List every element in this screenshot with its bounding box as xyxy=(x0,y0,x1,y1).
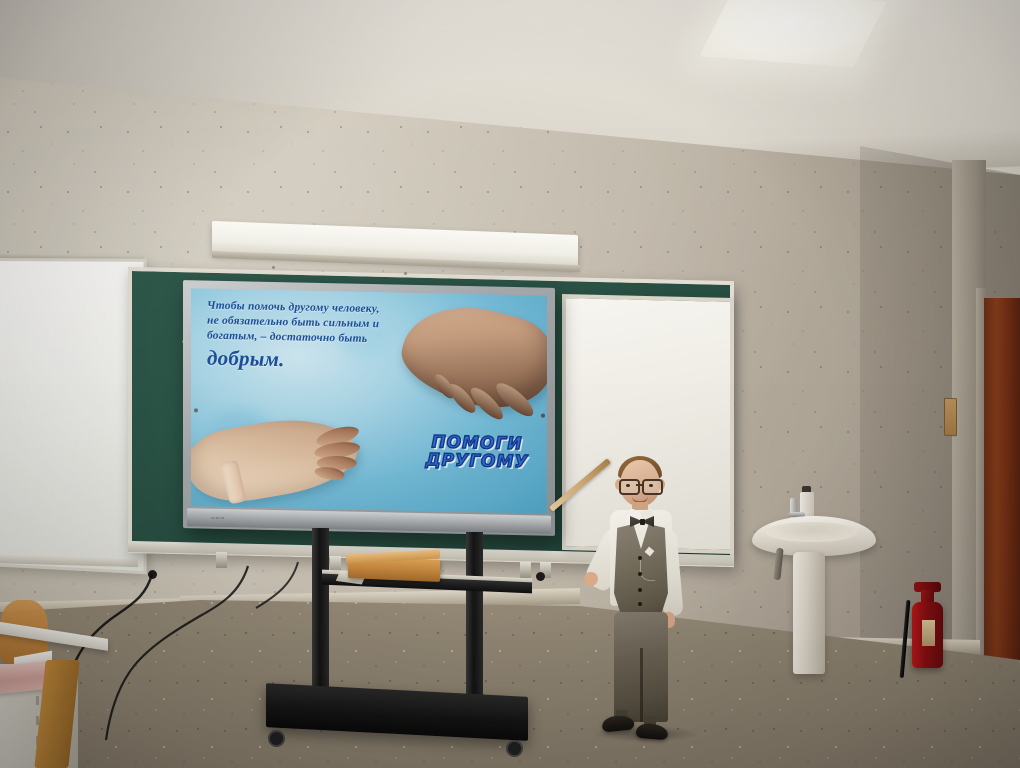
student-presenter[interactable] xyxy=(586,452,698,752)
board-bracket xyxy=(520,562,531,578)
slide-quote-line-2: не обязательно быть сильным и xyxy=(207,315,379,331)
board-bracket xyxy=(216,552,227,568)
glasses-lens-right xyxy=(642,479,663,495)
interactive-flat-panel[interactable]: Чтобы помочь другому человеку, не обязат… xyxy=(183,280,555,536)
glasses-bridge xyxy=(636,484,642,486)
slide-quote-line-3: богатым, – достаточно быть xyxy=(207,330,367,345)
vest-button xyxy=(638,602,642,606)
slide-quote-emphasis: добрым. xyxy=(207,346,477,374)
display-sensor-icon xyxy=(194,408,198,412)
fire-extinguisher-label xyxy=(922,620,935,646)
bow-tie-icon xyxy=(630,516,654,527)
cart-caster xyxy=(506,740,523,757)
board-knob xyxy=(148,570,157,579)
whiteboard-left[interactable] xyxy=(0,258,147,574)
slide-quote: Чтобы помочь другому человеку, не обязат… xyxy=(207,299,477,374)
shoe-left xyxy=(601,714,634,732)
bow-tie-knot xyxy=(640,519,645,525)
slide-quote-line-1: Чтобы помочь другому человеку, xyxy=(207,300,380,316)
board-light-screw xyxy=(404,272,407,275)
sink-pedestal xyxy=(793,552,825,674)
watch-chain-icon xyxy=(640,558,655,581)
slide-call-to-action: ПОМОГИ ДРУГОМУ xyxy=(407,433,547,473)
eye-left xyxy=(626,484,630,487)
display-logo: ▭▭▭ xyxy=(211,515,225,520)
shoe-right xyxy=(635,723,668,741)
cart-post-left xyxy=(312,528,329,702)
eye-right xyxy=(649,484,653,487)
slide-cta-line-2: ДРУГОМУ xyxy=(407,451,547,472)
trouser-seam xyxy=(640,648,643,722)
display-screen[interactable]: Чтобы помочь другому человеку, не обязат… xyxy=(191,288,547,513)
sink-bowl xyxy=(766,522,858,542)
classroom-door[interactable] xyxy=(984,298,1020,698)
board-light-screw xyxy=(272,266,275,269)
vest-button xyxy=(638,556,642,560)
vest-button xyxy=(638,588,642,592)
wall-thermometer-icon xyxy=(944,398,957,437)
board-knob xyxy=(536,572,545,581)
cart-caster xyxy=(268,730,285,747)
display-indicator-icon xyxy=(541,414,545,418)
vest-button xyxy=(638,572,642,576)
glasses-lens-left xyxy=(619,479,640,495)
cart-post-right xyxy=(466,532,483,704)
classroom-photo: Чтобы помочь другому человеку, не обязат… xyxy=(0,0,1020,768)
